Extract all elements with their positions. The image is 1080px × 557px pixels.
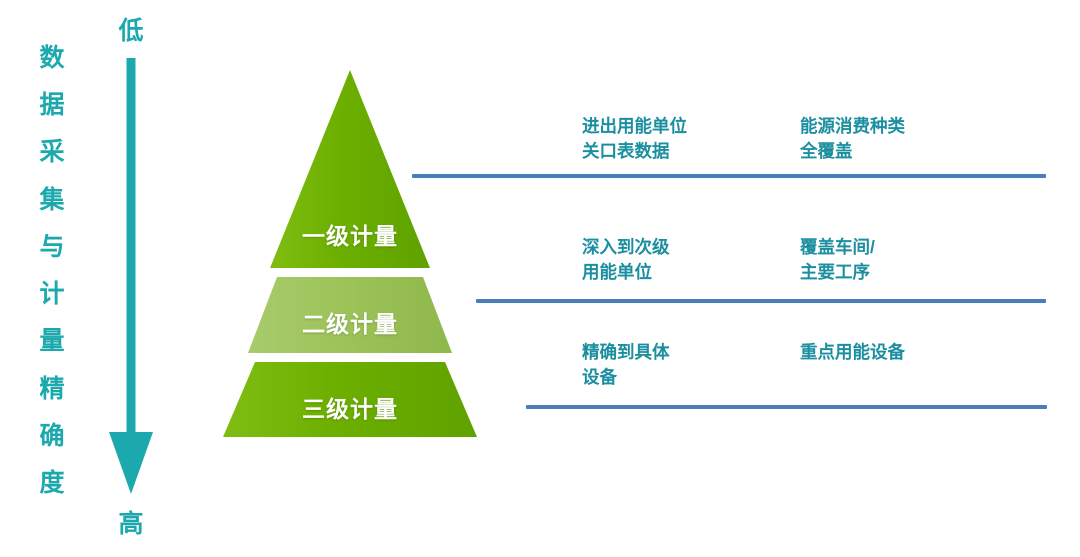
callout-tier-1: 进出用能单位 关口表数据 能源消费种类 全覆盖 [582, 114, 1052, 176]
callout-tier-1-texts: 进出用能单位 关口表数据 能源消费种类 全覆盖 [582, 114, 1052, 176]
callout-tier-3-texts: 精确到具体 设备 重点用能设备 [582, 340, 1052, 402]
diagram-canvas: 数 据 采 集 与 计 量 精 确 度 低 高 [0, 0, 1080, 557]
callout-tier-2-left-text: 深入到次级 用能单位 [582, 235, 670, 286]
vertical-label-char: 确 [39, 424, 64, 449]
callout-tier-3-left-text: 精确到具体 设备 [582, 340, 670, 391]
callout-tier-1-left-text: 进出用能单位 关口表数据 [582, 114, 687, 165]
vertical-label-char: 计 [39, 282, 64, 307]
vertical-label-char: 据 [39, 93, 64, 118]
pyramid-tier-2-shape[interactable] [248, 277, 452, 353]
vertical-label-char: 采 [39, 140, 64, 165]
callout-tier-2-right-text: 覆盖车间/ 主要工序 [800, 235, 875, 286]
down-arrow-icon [100, 58, 162, 498]
precision-axis-arrow-group: 低 高 [100, 18, 162, 538]
callout-tier-1-right-text: 能源消费种类 全覆盖 [800, 114, 905, 165]
vertical-label-char: 与 [39, 235, 64, 260]
callout-tier-2: 深入到次级 用能单位 覆盖车间/ 主要工序 [582, 235, 1052, 297]
vertical-label-char: 量 [39, 329, 64, 354]
callout-tier-2-texts: 深入到次级 用能单位 覆盖车间/ 主要工序 [582, 235, 1052, 297]
vertical-label-char: 数 [39, 46, 64, 71]
vertical-label-char: 度 [39, 471, 64, 496]
vertical-axis-label: 数 据 采 集 与 计 量 精 确 度 [30, 46, 74, 496]
callout-rule-tier-2 [476, 299, 1046, 303]
callout-rule-tier-3 [526, 405, 1047, 409]
measurement-level-pyramid: 一级计量 二级计量 三级计量 [180, 60, 520, 445]
pyramid-tier-1-shape[interactable] [270, 70, 430, 268]
pyramid-shapes [180, 60, 520, 445]
pyramid-tier-3-shape[interactable] [223, 362, 477, 437]
vertical-label-char: 集 [39, 188, 64, 213]
callout-tier-3-right-text: 重点用能设备 [800, 340, 905, 365]
axis-high-label: 高 [100, 511, 162, 539]
callout-rule-tier-1 [412, 174, 1046, 178]
axis-low-label: 低 [100, 18, 162, 46]
vertical-label-char: 精 [39, 377, 64, 402]
callout-tier-3: 精确到具体 设备 重点用能设备 [582, 340, 1052, 402]
